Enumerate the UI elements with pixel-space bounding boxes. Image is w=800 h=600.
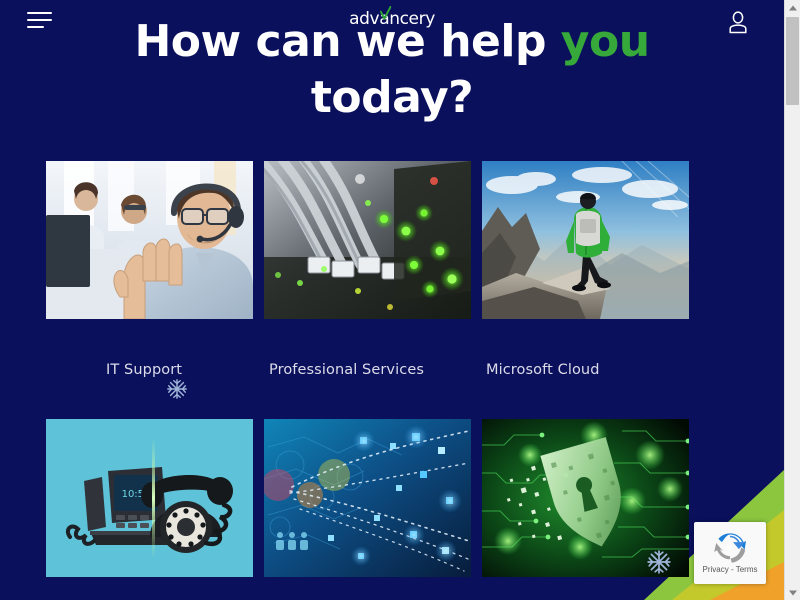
menu-line-2: [27, 19, 52, 21]
service-card-telecoms-voip[interactable]: 10:56: [46, 419, 253, 600]
service-thumbnail-it-support: [46, 161, 253, 319]
service-card-title: IT Support: [46, 319, 253, 419]
service-card-microsoft-cloud[interactable]: Microsoft Cloud: [482, 161, 689, 419]
hamburger-menu-icon[interactable]: [27, 11, 53, 33]
site-logo[interactable]: advancery: [349, 8, 435, 30]
recaptcha-privacy-link[interactable]: Privacy: [703, 565, 729, 574]
service-card-artificial-intelligence[interactable]: Artificial Intelligence: [264, 419, 471, 600]
page-content: advancery How can we help you today?: [0, 0, 784, 600]
logo-text: advancery: [349, 11, 435, 28]
hero-line2: today?: [311, 72, 473, 123]
recaptcha-icon: [713, 532, 747, 564]
service-card-title: Cyber Services: [482, 577, 689, 600]
service-thumbnail-microsoft-cloud: [482, 161, 689, 319]
vertical-scrollbar[interactable]: [784, 0, 800, 600]
scrollbar-thumb[interactable]: [786, 17, 799, 105]
call-centre-agent-image: [46, 161, 253, 319]
service-thumbnail-professional-services: [264, 161, 471, 319]
browser-viewport: advancery How can we help you today?: [0, 0, 800, 600]
mountain-summit-hiker-image: [482, 161, 689, 319]
menu-line-3: [27, 26, 44, 28]
voip-and-rotary-phone-image: 10:56: [46, 419, 253, 577]
service-thumbnail-cyber-services: [482, 419, 689, 577]
service-card-title: Artificial Intelligence: [264, 577, 471, 600]
neural-network-abstract-image: [264, 419, 471, 577]
person-glyph: [727, 10, 749, 34]
service-card-it-support[interactable]: IT Support: [46, 161, 253, 419]
service-card-title: Professional Services: [264, 319, 471, 419]
service-card-title: Microsoft Cloud: [482, 319, 689, 419]
service-thumbnail-artificial-intelligence: [264, 419, 471, 577]
scrollbar-down-arrow-icon[interactable]: [785, 585, 800, 600]
service-card-title: Telecoms & VoIP: [46, 577, 253, 600]
scrollbar-up-arrow-icon[interactable]: [785, 0, 800, 15]
green-shield-keyhole-image: [482, 419, 689, 577]
services-grid: IT Support: [46, 161, 694, 600]
menu-line-1: [27, 12, 52, 14]
recaptcha-links[interactable]: Privacy - Terms: [703, 565, 758, 575]
service-card-professional-services[interactable]: Professional Services: [264, 161, 471, 419]
site-header: advancery: [0, 0, 784, 44]
network-cables-image: [264, 161, 471, 319]
recaptcha-separator: -: [731, 565, 734, 574]
recaptcha-badge[interactable]: Privacy - Terms: [694, 522, 766, 584]
service-card-cyber-services[interactable]: Cyber Services: [482, 419, 689, 600]
service-thumbnail-telecoms-voip: 10:56: [46, 419, 253, 577]
recaptcha-terms-link[interactable]: Terms: [736, 565, 758, 574]
account-icon[interactable]: [727, 10, 749, 34]
